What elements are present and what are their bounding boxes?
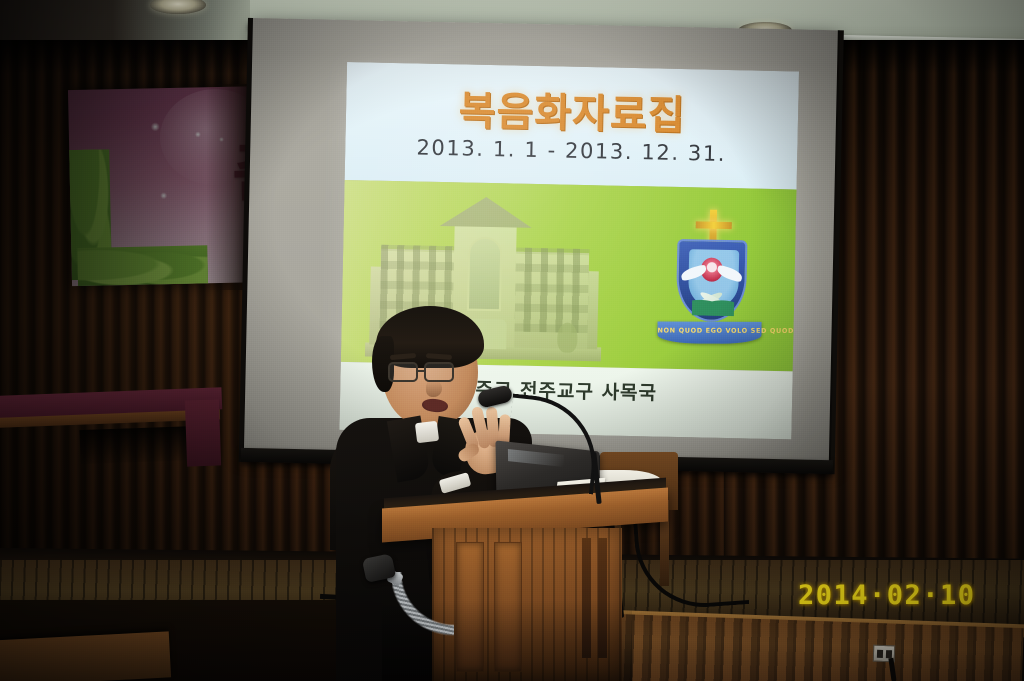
crest-motto-ribbon: NON QUOD EGO VOLO SED QUOD TU	[657, 321, 761, 343]
sparkle-icon	[195, 131, 201, 137]
sparkle-icon	[151, 122, 160, 131]
podium-carved-panel	[494, 542, 522, 672]
cross-icon	[696, 221, 732, 229]
roman-collar	[415, 421, 439, 444]
slide-title-text: 복음화자료집	[346, 76, 799, 143]
eyeglasses-bridge	[418, 370, 426, 372]
eyeglasses-icon	[388, 362, 418, 382]
hills-icon	[692, 297, 734, 316]
podium-groove	[582, 538, 591, 658]
camera-datestamp: 2014·02·10	[798, 580, 976, 611]
shield-icon	[676, 239, 748, 322]
diocesan-crest: NON QUOD EGO VOLO SED QUOD TU	[661, 209, 760, 351]
microphone-flexible-neck	[392, 572, 454, 668]
photograph-scene: 춘 20 복음화자료집 2013. 1. 1 - 2013. 12. 31.	[0, 0, 1024, 681]
sparkle-icon	[160, 192, 167, 199]
building-gable-roof	[440, 196, 533, 228]
podium-body	[432, 528, 622, 681]
tree-icon	[557, 322, 578, 352]
leaf-decoration-icon	[77, 245, 208, 286]
crest-motto-text: NON QUOD EGO VOLO SED QUOD TU	[658, 326, 762, 334]
drape-table-shadow	[79, 426, 200, 464]
eyeglasses-icon	[424, 362, 454, 382]
foreground-bench	[0, 631, 171, 681]
podium-carved-panel	[456, 542, 484, 672]
speaker-nose	[426, 380, 442, 397]
drape-table-side-fall	[185, 399, 221, 466]
podium-groove	[598, 538, 607, 658]
